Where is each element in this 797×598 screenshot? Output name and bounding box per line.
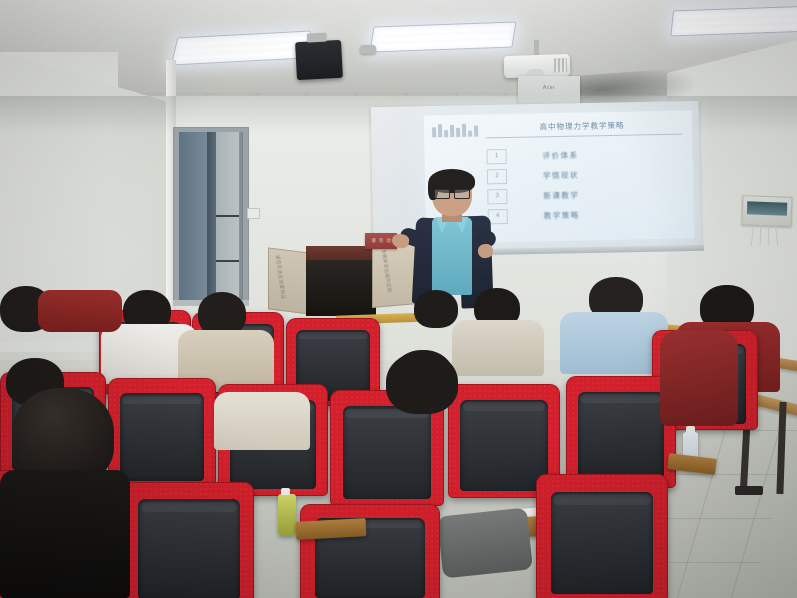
- slide-item-number: 1: [486, 149, 506, 164]
- seat-highlight: [298, 332, 368, 339]
- attendee-front-left-torso: [0, 470, 130, 598]
- speaker-bracket: [307, 33, 327, 43]
- wall-socket-icon[interactable]: [247, 208, 260, 219]
- doorway-opening[interactable]: [179, 132, 243, 305]
- panel-wires: [746, 222, 790, 248]
- seat-highlight: [553, 494, 651, 504]
- lectern-body: [306, 260, 376, 316]
- seat-cushion: [138, 499, 239, 598]
- slide-item-label: 评价体系: [542, 149, 578, 161]
- bench-foot: [735, 486, 763, 495]
- attendee-row-right-torso: [452, 320, 544, 376]
- slide-item-label: 新课教学: [543, 189, 579, 201]
- bottle-cap: [281, 488, 290, 495]
- door-leaf[interactable]: [179, 132, 209, 305]
- seat-cushion: [460, 400, 547, 491]
- seat-cushion: [120, 393, 204, 481]
- plaque-char: 请: [371, 238, 376, 244]
- classroom-photo: Acer 高中物理力学教学策略 1 评价体系 2 学情现状 3 新课教学: [0, 0, 797, 598]
- seat-cushion: [551, 492, 654, 594]
- barcode-logo: [432, 123, 480, 138]
- seat-cushion: [578, 392, 664, 482]
- jacket-grey-draped: [437, 507, 533, 578]
- backpack-red[interactable]: [660, 330, 738, 426]
- doorway-frame: [173, 127, 249, 305]
- seat-row1-2[interactable]: [124, 482, 254, 598]
- attendee-row2-left-torso: [214, 392, 310, 450]
- slide-agenda-item: 4 教学策略: [488, 203, 680, 227]
- projector-vent: [554, 58, 567, 72]
- seat-row1-4[interactable]: [536, 474, 668, 598]
- smoke-detector-icon: [360, 45, 376, 54]
- lectern-left-panel: 请勿在此处放置物品: [268, 247, 310, 314]
- lectern: 请勿在此处放置物品 多媒体讲台操作说明: [268, 238, 420, 318]
- ceiling-light-center: [369, 22, 516, 53]
- seat-row2-2[interactable]: [108, 378, 216, 488]
- presenter-shirt: [432, 217, 472, 295]
- seat-cushion: [343, 406, 432, 499]
- water-bottle-green-tea[interactable]: [278, 494, 296, 536]
- projector-housing: Acer: [518, 76, 580, 106]
- tablet-arm-front: [296, 518, 367, 540]
- slide-title-rule: [486, 134, 682, 139]
- ceiling-light-right: [670, 6, 797, 37]
- jacket-on-seat-red: [38, 290, 122, 332]
- plaque-char: 动: [386, 238, 391, 244]
- attendee-front-right-head: [386, 352, 458, 414]
- lectern-left-text: 请勿在此处放置物品: [274, 255, 286, 300]
- door-edge: [239, 132, 243, 305]
- panel-window: [747, 201, 787, 215]
- lectern-right-text: 多媒体讲台操作说明: [380, 249, 392, 293]
- bottle-cap: [686, 426, 695, 433]
- slide-item-label: 教学策略: [544, 209, 580, 221]
- slide-title: 高中物理力学教学策略: [484, 119, 680, 134]
- glasses-icon: [434, 189, 470, 197]
- seat-highlight: [580, 394, 661, 403]
- attendee-mid-right-head: [414, 290, 458, 328]
- seat-highlight: [122, 396, 202, 405]
- projector-brand-label: Acer: [518, 85, 580, 91]
- slide-agenda-list: 1 评价体系 2 学情现状 3 新课教学 4 教学策略: [486, 143, 680, 227]
- wall-speaker: [295, 40, 343, 80]
- plaque-char: 勿: [379, 238, 384, 244]
- ceiling-projector: [504, 54, 571, 78]
- seat-highlight: [463, 402, 546, 411]
- seat-highlight: [141, 502, 237, 512]
- slide-item-label: 学情现状: [543, 169, 579, 181]
- seat-row1-3[interactable]: [300, 504, 440, 598]
